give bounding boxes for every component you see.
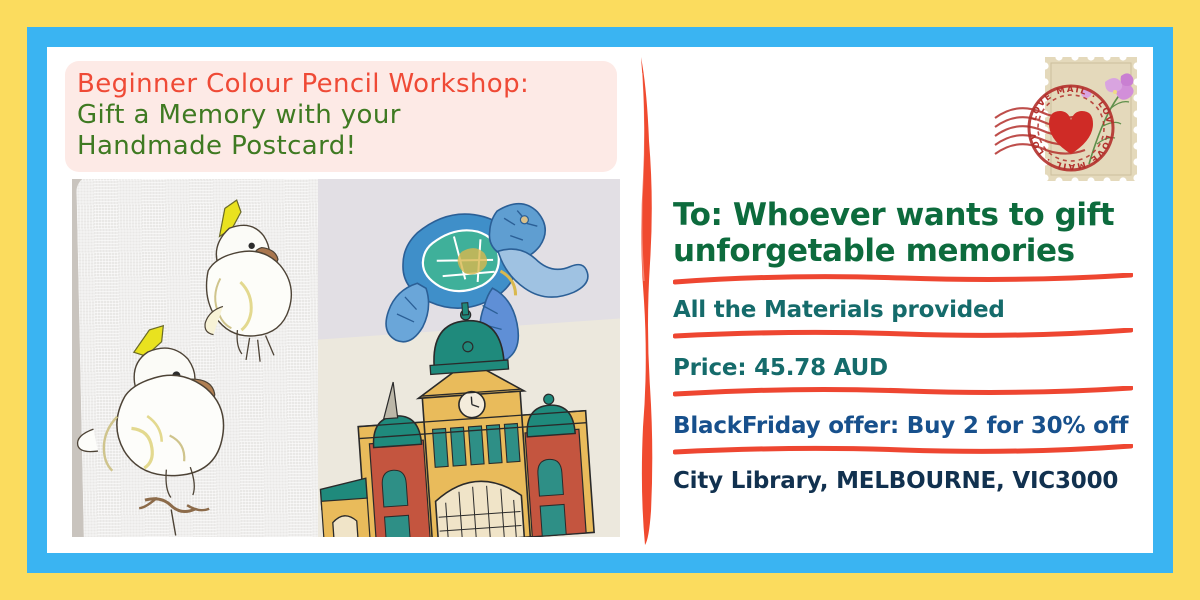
to-line-1: To: Whoever wants to gift [673,197,1145,233]
poster-root: Beginner Colour Pencil Workshop: Gift a … [0,0,1200,600]
address-details: To: Whoever wants to gift unforgetable m… [673,197,1145,495]
red-brush-divider [625,47,659,553]
venue-line: City Library, MELBOURNE, VIC3000 [673,468,1145,495]
underline-1 [673,273,1133,286]
offer-line: BlackFriday offer: Buy 2 for 30% off [673,413,1145,440]
cockatoo-photo [72,179,318,537]
right-pane: LOVE MAIL · LOVE MAIL LOVE MAIL · LOVE M… [659,47,1153,553]
turtle-and-station-photo [318,179,620,537]
headline-line-1: Beginner Colour Pencil Workshop: [77,69,605,100]
left-pane: Beginner Colour Pencil Workshop: Gift a … [47,47,625,553]
stamp-icon: LOVE MAIL · LOVE MAIL LOVE MAIL · LOVE M… [993,52,1143,187]
brush-stroke-icon [625,47,659,553]
postcard-card: Beginner Colour Pencil Workshop: Gift a … [47,47,1153,553]
photo-collage [72,179,620,537]
postage-stamp: LOVE MAIL · LOVE MAIL LOVE MAIL · LOVE M… [993,52,1143,187]
cockatoo-drawing-icon [72,179,318,537]
to-line-2: unforgetable memories [673,233,1145,269]
materials-line: All the Materials provided [673,297,1145,324]
underline-3 [673,386,1133,399]
flinders-street-station-drawing-icon [318,179,620,537]
headline-line-3: Handmade Postcard! [77,131,605,162]
underline-4 [673,444,1133,457]
headline-block: Beginner Colour Pencil Workshop: Gift a … [65,61,617,172]
underline-2 [673,328,1133,341]
headline-line-2: Gift a Memory with your [77,100,605,131]
price-line: Price: 45.78 AUD [673,355,1145,382]
